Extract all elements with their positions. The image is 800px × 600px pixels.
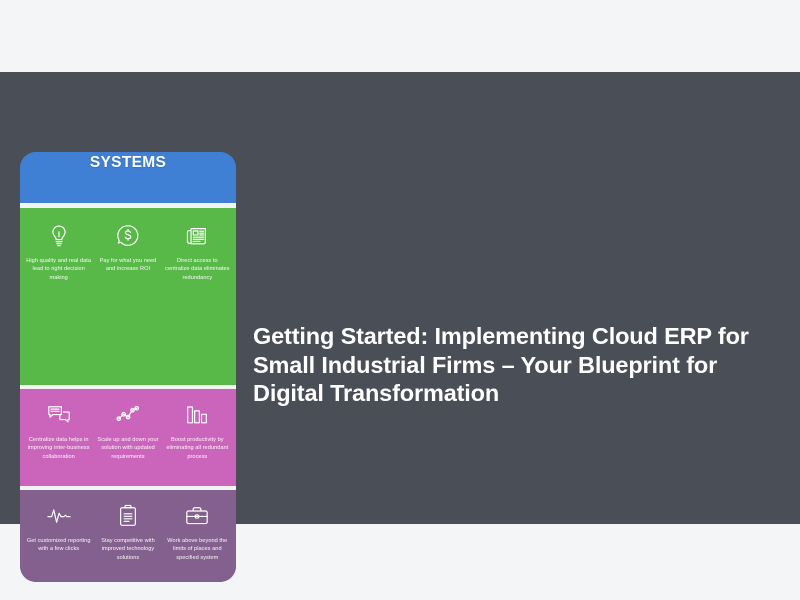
benefit-text: Get customized reporting with a few clic… [26,537,91,554]
benefit-item[interactable]: Pay for what you need and increase ROI [93,208,162,385]
benefit-text: High quality and real data lead to right… [26,257,91,282]
benefit-text: Direct access to centralize data elimina… [165,257,230,282]
section-row: Get customized reporting with a few clic… [20,490,236,582]
benefit-item[interactable]: Boost productivity by eliminating all re… [163,389,232,486]
benefit-item[interactable]: Get customized reporting with a few clic… [24,490,93,582]
benefit-text: Pay for what you need and increase ROI [95,257,160,274]
infographic-section-green: High quality and real data lead to right… [20,208,236,385]
infographic-section-pink: Centralize data helps in improving inter… [20,389,236,486]
lightbulb-icon [44,222,74,250]
infographic-title: CLOUD BASED ERP SYSTEMS [20,152,236,171]
dollar-bubble-icon [113,222,143,250]
hero-banner: CLOUD BASED ERP SYSTEMS [0,72,800,524]
benefit-item[interactable]: High quality and real data lead to right… [24,208,93,385]
benefit-text: Work above beyond the limits of places a… [165,537,230,562]
benefit-item[interactable]: Direct access to centralize data elimina… [163,208,232,385]
benefit-text: Stay competitive with improved technolog… [95,537,160,562]
benefit-text: Scale up and down your solution with upd… [95,436,160,461]
clipboard-icon [113,502,143,530]
infographic-header: CLOUD BASED ERP SYSTEMS [20,152,236,203]
page-title: Getting Started: Implementing Cloud ERP … [253,322,753,408]
infographic-section-purple: Get customized reporting with a few clic… [20,490,236,582]
benefit-text: Centralize data helps in improving inter… [26,436,91,461]
infographic-card[interactable]: CLOUD BASED ERP SYSTEMS [20,152,236,582]
benefit-item[interactable]: Work above beyond the limits of places a… [163,490,232,582]
section-row: Centralize data helps in improving inter… [20,389,236,486]
briefcase-icon [182,502,212,530]
newspaper-icon [182,222,212,250]
bar-chart-icon [182,401,212,429]
benefit-text: Boost productivity by eliminating all re… [165,436,230,461]
chat-bubbles-icon [44,401,74,429]
benefit-item[interactable]: Scale up and down your solution with upd… [93,389,162,486]
page-root: CLOUD BASED ERP SYSTEMS [0,0,800,600]
benefit-item[interactable]: Stay competitive with improved technolog… [93,490,162,582]
section-row: High quality and real data lead to right… [20,208,236,385]
line-chart-icon [113,401,143,429]
benefit-item[interactable]: Centralize data helps in improving inter… [24,389,93,486]
pulse-icon [44,502,74,530]
